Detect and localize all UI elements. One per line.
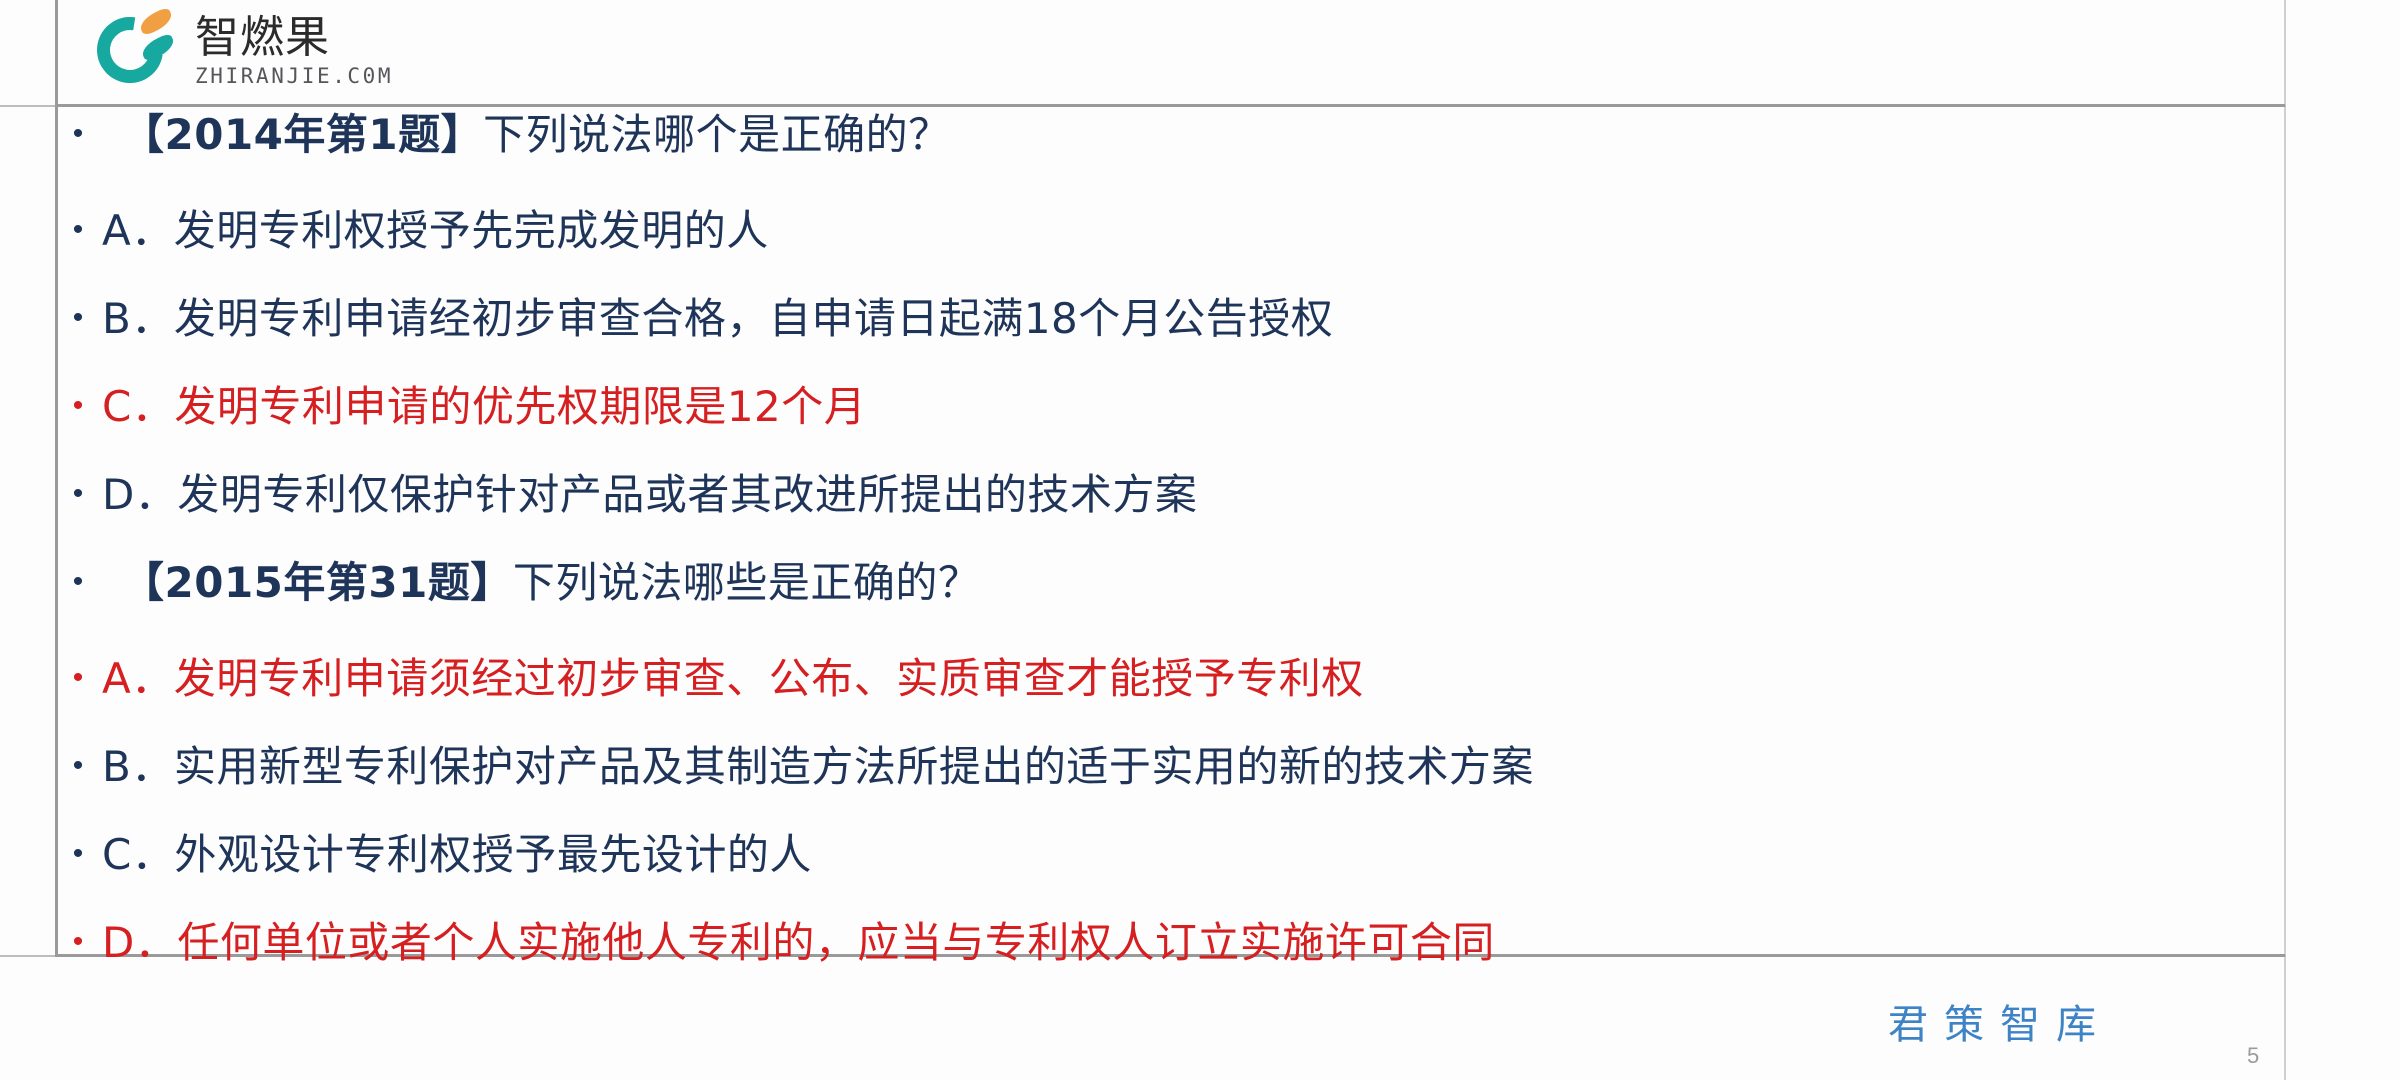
- answer-option-row: •B．发明专利申请经初步审查合格，自申请日起满18个月公告授权: [60, 296, 2280, 384]
- bullet-point-icon: •: [60, 567, 96, 597]
- answer-option-row: •D．发明专利仅保护针对产品或者其改进所提出的技术方案: [60, 472, 2280, 560]
- slide-bullet-list: •【2014年第1题】下列说法哪个是正确的？•A．发明专利权授予先完成发明的人•…: [60, 112, 2280, 1008]
- bullet-point-icon: •: [60, 215, 96, 245]
- bullet-point-icon: •: [60, 303, 96, 333]
- answer-option-text: B．实用新型专利保护对产品及其制造方法所提出的适于实用的新的技术方案: [96, 744, 1534, 790]
- answer-option-text: D．发明专利仅保护针对产品或者其改进所提出的技术方案: [96, 472, 1197, 518]
- bullet-body-text: A．发明专利权授予先完成发明的人: [102, 206, 769, 255]
- slide-header-divider: [0, 105, 2286, 107]
- question-text: 【2015年第31题】下列说法哪些是正确的？: [96, 560, 980, 606]
- answer-option-text: B．发明专利申请经初步审查合格，自申请日起满18个月公告授权: [96, 296, 1333, 342]
- bullet-body-text: B．发明专利申请经初步审查合格，自申请日起满18个月公告授权: [102, 294, 1333, 343]
- footer-brand-text: 君策智库: [1888, 992, 2112, 1050]
- answer-option-row: •B．实用新型专利保护对产品及其制造方法所提出的适于实用的新的技术方案: [60, 744, 2280, 832]
- brand-name-en: ZHIRANJIE.C0M: [195, 66, 393, 87]
- bullet-body-text: 下列说法哪个是正确的？: [483, 110, 951, 159]
- answer-option-text: A．发明专利申请须经过初步审查、公布、实质审查才能授予专利权: [96, 656, 1364, 702]
- bullet-point-icon: •: [60, 479, 96, 509]
- bullet-body-text: C．外观设计专利权授予最先设计的人: [102, 830, 812, 879]
- brand-name-cn: 智燃果: [195, 16, 393, 60]
- answer-option-row: •A．发明专利权授予先完成发明的人: [60, 208, 2280, 296]
- bullet-point-icon: •: [60, 119, 96, 149]
- question-heading-row: •【2014年第1题】下列说法哪个是正确的？: [60, 112, 2280, 208]
- bullet-point-icon: •: [60, 839, 96, 869]
- slide-page-number: 5: [2247, 1043, 2259, 1069]
- content-placeholder-topline: [55, 104, 2285, 107]
- bullet-body-text: D．任何单位或者个人实施他人专利的，应当与专利权人订立实施许可合同: [102, 918, 1495, 967]
- answer-option-row: •C．发明专利申请的优先权期限是12个月: [60, 384, 2280, 472]
- brand-logo-text: 智燃果 ZHIRANJIE.C0M: [195, 16, 393, 87]
- bullet-point-icon: •: [60, 927, 96, 957]
- bullet-body-text: B．实用新型专利保护对产品及其制造方法所提出的适于实用的新的技术方案: [102, 742, 1534, 791]
- bullet-body-text: D．发明专利仅保护针对产品或者其改进所提出的技术方案: [102, 470, 1197, 519]
- bullet-point-icon: •: [60, 663, 96, 693]
- brand-logo: 智燃果 ZHIRANJIE.C0M: [95, 0, 515, 103]
- question-number-label: 【2014年第1题】: [122, 110, 483, 159]
- question-text: 【2014年第1题】下列说法哪个是正确的？: [96, 112, 951, 158]
- leaf-circle-logo-icon: [95, 9, 181, 95]
- bullet-body-text: C．发明专利申请的优先权期限是12个月: [102, 382, 866, 431]
- answer-option-text: D．任何单位或者个人实施他人专利的，应当与专利权人订立实施许可合同: [96, 920, 1495, 966]
- answer-option-row: •A．发明专利申请须经过初步审查、公布、实质审查才能授予专利权: [60, 656, 2280, 744]
- answer-option-row: •C．外观设计专利权授予最先设计的人: [60, 832, 2280, 920]
- question-number-label: 【2015年第31题】: [122, 558, 513, 607]
- answer-option-text: C．外观设计专利权授予最先设计的人: [96, 832, 812, 878]
- answer-option-text: A．发明专利权授予先完成发明的人: [96, 208, 769, 254]
- bullet-point-icon: •: [60, 391, 96, 421]
- answer-option-text: C．发明专利申请的优先权期限是12个月: [96, 384, 866, 430]
- bullet-body-text: A．发明专利申请须经过初步审查、公布、实质审查才能授予专利权: [102, 654, 1364, 703]
- bullet-point-icon: •: [60, 751, 96, 781]
- question-heading-row: •【2015年第31题】下列说法哪些是正确的？: [60, 560, 2280, 656]
- slide-canvas: 智燃果 ZHIRANJIE.C0M •【2014年第1题】下列说法哪个是正确的？…: [0, 0, 2400, 1080]
- bullet-body-text: 下列说法哪些是正确的？: [513, 558, 981, 607]
